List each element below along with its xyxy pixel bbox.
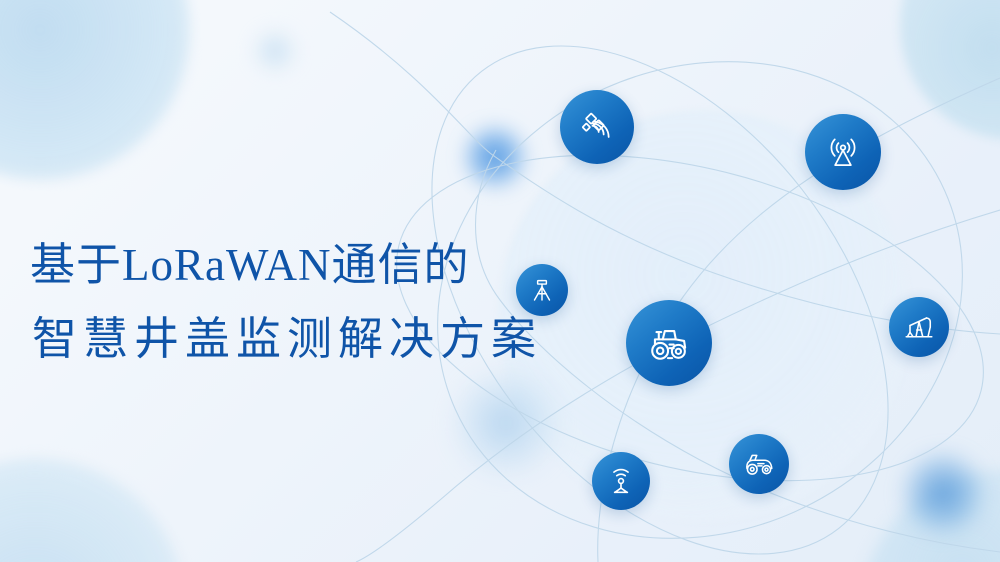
icon-node-oil-pumpjack[interactable] bbox=[889, 297, 949, 357]
wireless-sensor-icon bbox=[604, 464, 638, 498]
icon-node-tractor[interactable] bbox=[626, 300, 712, 386]
lawn-mower-icon bbox=[741, 446, 777, 482]
title-line-2: 智慧井盖监测解决方案 bbox=[30, 302, 590, 376]
title-block: 基于LoRaWAN通信的 智慧井盖监测解决方案 bbox=[30, 228, 590, 376]
tractor-icon bbox=[644, 318, 694, 368]
title-line-1: 基于LoRaWAN通信的 bbox=[30, 228, 590, 302]
icon-node-wireless-sensor[interactable] bbox=[592, 452, 650, 510]
icon-node-radio-tower[interactable] bbox=[805, 114, 881, 190]
oil-pumpjack-icon bbox=[901, 309, 937, 345]
satellite-dish-icon bbox=[577, 107, 617, 147]
radio-tower-icon bbox=[822, 131, 864, 173]
presentation-cover-slide: 基于LoRaWAN通信的 智慧井盖监测解决方案 bbox=[0, 0, 1000, 562]
icon-node-satellite-dish[interactable] bbox=[560, 90, 634, 164]
icon-node-lawn-mower[interactable] bbox=[729, 434, 789, 494]
